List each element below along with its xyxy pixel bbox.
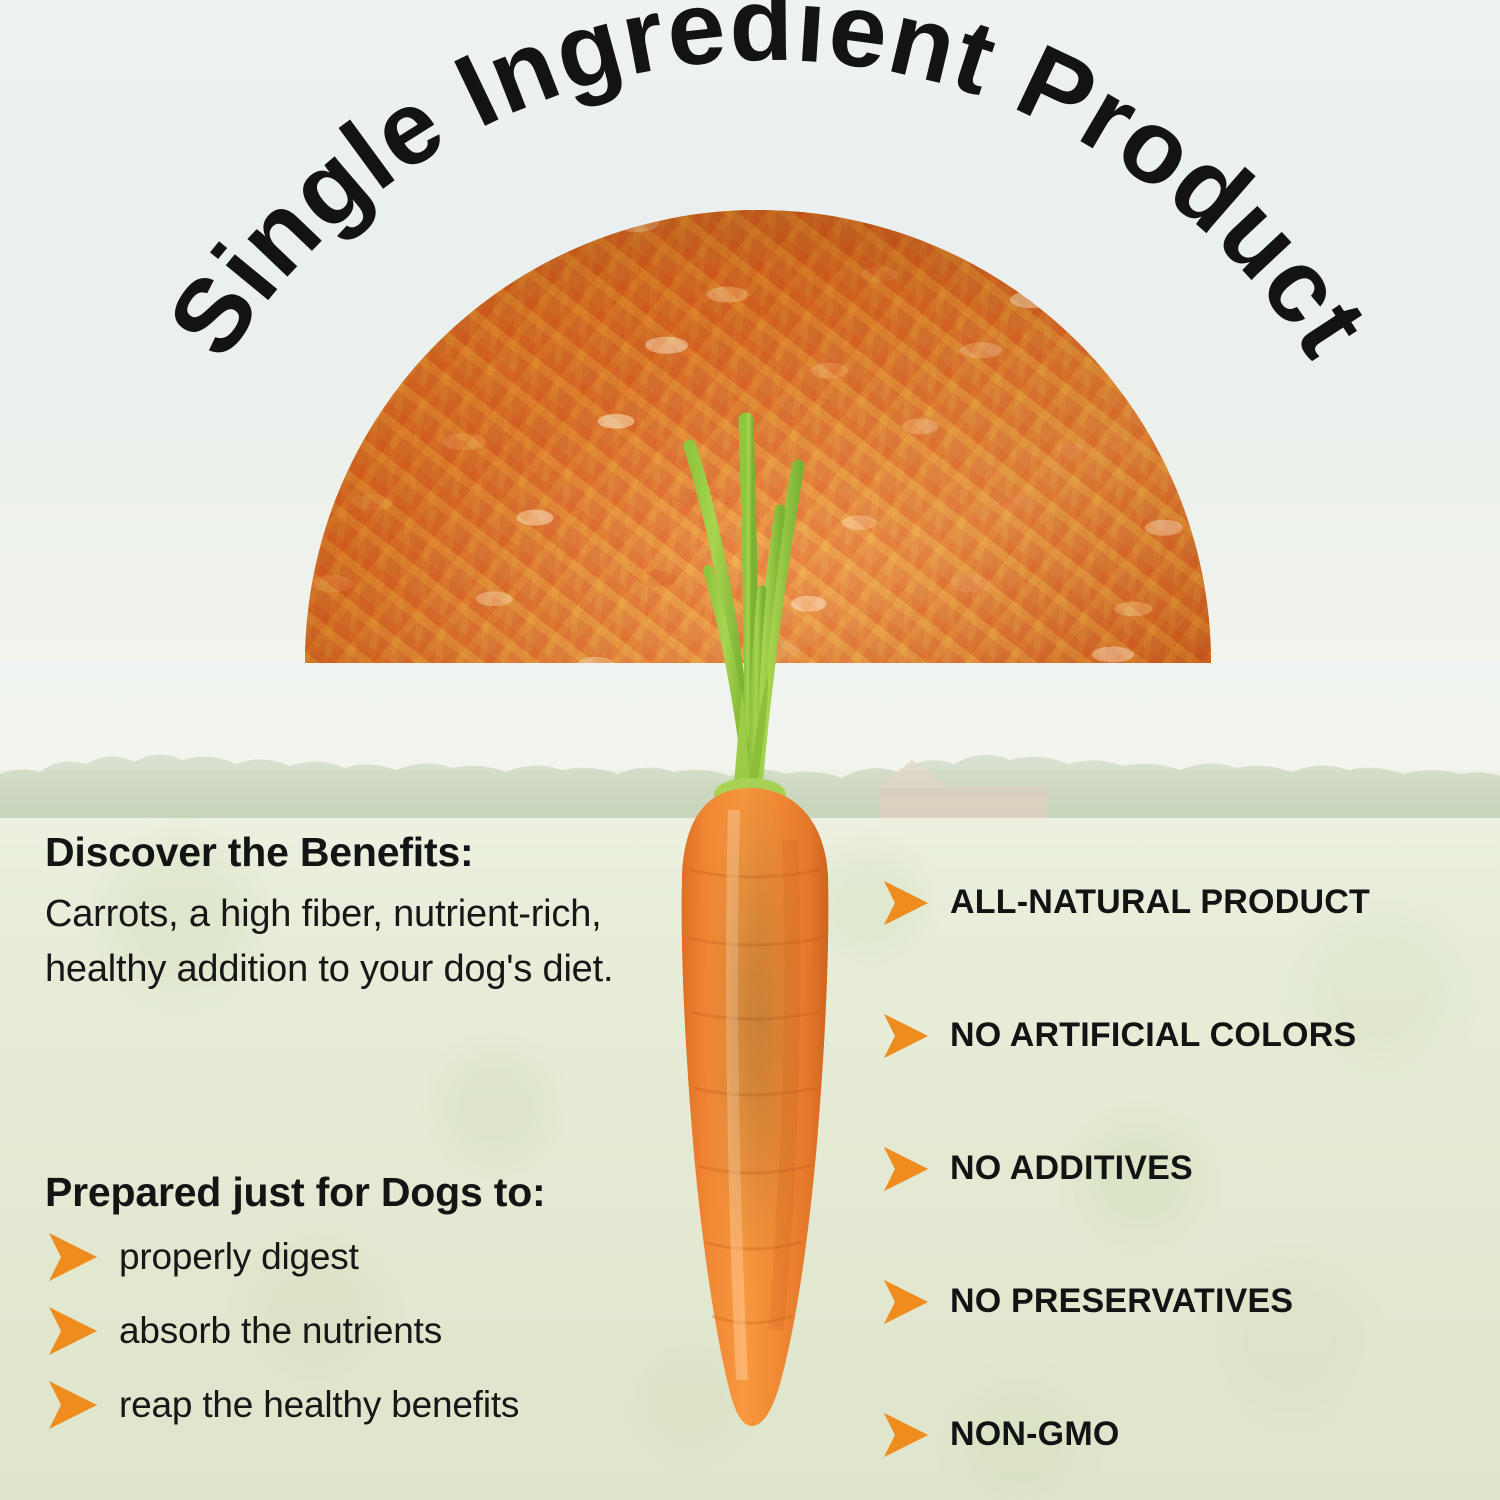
arrow-bullet-icon [45, 1379, 101, 1431]
list-item: NO PRESERVATIVES [880, 1235, 1480, 1368]
carrot-shadow [694, 650, 814, 1390]
list-item: NO ARTIFICIAL COLORS [880, 969, 1480, 1102]
claim-label: NO PRESERVATIVES [950, 1282, 1293, 1321]
arrow-bullet-icon [880, 1278, 932, 1326]
prepared-block: Prepared just for Dogs to: properly dige… [45, 1170, 705, 1453]
arrow-bullet-icon [45, 1305, 101, 1357]
list-item: NO ADDITIVES [880, 1102, 1480, 1235]
arrow-bullet-icon [880, 1012, 932, 1060]
list-item: reap the healthy benefits [45, 1379, 705, 1431]
benefits-block: Discover the Benefits: Carrots, a high f… [45, 830, 685, 997]
arrow-bullet-icon [880, 1411, 932, 1459]
benefits-body: Carrots, a high fiber, nutrient-rich, he… [45, 887, 685, 996]
list-item-label: reap the healthy benefits [119, 1384, 519, 1426]
list-item: ALL-NATURAL PRODUCT [880, 836, 1480, 969]
arrow-bullet-icon [880, 1145, 932, 1193]
claim-label: NO ARTIFICIAL COLORS [950, 1016, 1356, 1055]
claim-label: NO ADDITIVES [950, 1149, 1193, 1188]
infographic-canvas: Single Ingredient Product [0, 0, 1500, 1500]
claim-label: NON-GMO [950, 1415, 1120, 1454]
list-item-label: absorb the nutrients [119, 1310, 442, 1352]
arrow-bullet-icon [45, 1231, 101, 1283]
claim-label: ALL-NATURAL PRODUCT [950, 883, 1370, 922]
list-item-label: properly digest [119, 1236, 359, 1278]
arrow-bullet-icon [880, 879, 932, 927]
benefits-heading: Discover the Benefits: [45, 830, 685, 875]
list-item: NON-GMO [880, 1368, 1480, 1500]
list-item: absorb the nutrients [45, 1305, 705, 1357]
prepared-heading: Prepared just for Dogs to: [45, 1170, 705, 1215]
claims-block: ALL-NATURAL PRODUCT NO ARTIFICIAL COLORS… [880, 836, 1480, 1500]
list-item: properly digest [45, 1231, 705, 1283]
